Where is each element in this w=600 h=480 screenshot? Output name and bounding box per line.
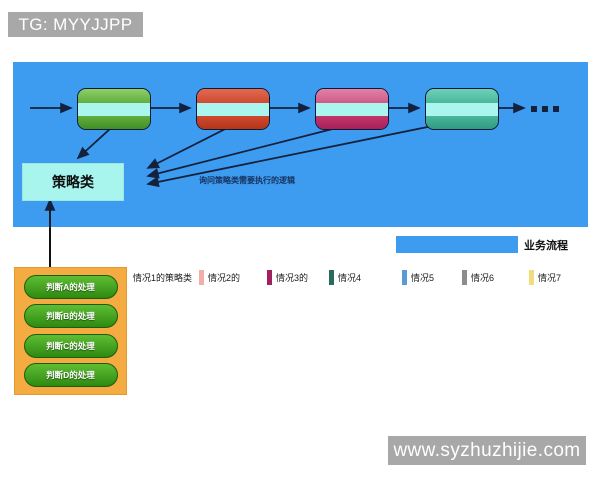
- strategy-item-2[interactable]: 判断B的处理: [24, 304, 118, 328]
- node-top-band: [197, 89, 269, 103]
- legend-item-label: 情况2的: [208, 271, 240, 284]
- legend-color-chip: [329, 270, 334, 285]
- flow-node-2[interactable]: [196, 88, 270, 130]
- connector-line: [49, 228, 51, 268]
- legend-item-label: 情况7: [538, 271, 561, 284]
- strategy-item-4[interactable]: 判断D的处理: [24, 363, 118, 387]
- node-bottom-band: [197, 116, 269, 130]
- legend-item-label: 情况6: [471, 271, 494, 284]
- legend-item-label: 情况3的: [276, 271, 308, 284]
- legend-item-5: 情况5: [402, 270, 434, 285]
- legend-item-label: 情况4: [338, 271, 361, 284]
- ellipsis-dot-1: [531, 106, 537, 112]
- node-bottom-band: [426, 116, 498, 130]
- legend-color-chip: [267, 270, 272, 285]
- strategy-item-3[interactable]: 判断C的处理: [24, 334, 118, 358]
- legend-item-label: 情况1的策略类: [133, 271, 192, 284]
- query-annotation: 询问策略类需要执行的逻辑: [199, 175, 295, 186]
- strategy-item-1[interactable]: 判断A的处理: [24, 275, 118, 299]
- node-center-band: [78, 103, 150, 116]
- legend-item-6: 情况6: [462, 270, 494, 285]
- ellipsis-dot-3: [553, 106, 559, 112]
- business-flow-swatch: [396, 236, 518, 253]
- legend-color-chip: [199, 270, 204, 285]
- flow-node-4[interactable]: [425, 88, 499, 130]
- ellipsis-dot-2: [542, 106, 548, 112]
- business-flow-panel: [13, 62, 588, 227]
- node-bottom-band: [78, 116, 150, 130]
- top-watermark: TG: MYYJJPP: [8, 12, 143, 37]
- legend-row: 情况1的策略类情况2的情况3的情况4情况5情况6情况7: [124, 270, 594, 290]
- bottom-watermark: www.syzhuzhijie.com: [388, 436, 586, 465]
- node-top-band: [426, 89, 498, 103]
- strategy-implementations-panel: 判断A的处理判断B的处理判断C的处理判断D的处理: [14, 267, 127, 395]
- node-top-band: [316, 89, 388, 103]
- strategy-class-box: 策略类: [22, 163, 124, 201]
- legend-item-7: 情况7: [529, 270, 561, 285]
- legend-color-chip: [462, 270, 467, 285]
- flow-node-3[interactable]: [315, 88, 389, 130]
- legend-item-3: 情况3的: [267, 270, 308, 285]
- flow-node-1[interactable]: [77, 88, 151, 130]
- legend-item-2: 情况2的: [199, 270, 240, 285]
- legend-color-chip: [402, 270, 407, 285]
- legend-color-chip: [529, 270, 534, 285]
- legend-item-4: 情况4: [329, 270, 361, 285]
- legend-item-1: 情况1的策略类: [124, 270, 192, 285]
- node-top-band: [78, 89, 150, 103]
- node-center-band: [197, 103, 269, 116]
- node-bottom-band: [316, 116, 388, 130]
- node-center-band: [316, 103, 388, 116]
- legend-item-label: 情况5: [411, 271, 434, 284]
- node-center-band: [426, 103, 498, 116]
- business-flow-swatch-label: 业务流程: [524, 237, 568, 253]
